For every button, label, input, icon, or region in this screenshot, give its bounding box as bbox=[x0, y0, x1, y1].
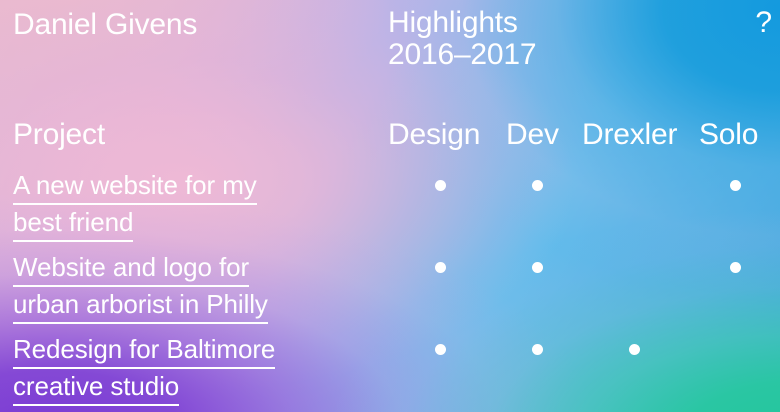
column-header-dev: Dev bbox=[506, 116, 559, 154]
project-link[interactable]: Redesign for Baltimore creative studio bbox=[13, 332, 373, 406]
page-title-line-1: Highlights bbox=[388, 6, 518, 39]
column-header-drexler: Drexler bbox=[582, 116, 677, 154]
help-icon[interactable]: ? bbox=[755, 7, 772, 39]
table-row: Website and logo for urban arborist in P… bbox=[0, 250, 780, 332]
cell-dot-design bbox=[435, 180, 446, 191]
project-link[interactable]: Website and logo for urban arborist in P… bbox=[13, 250, 373, 324]
cell-dot-dev bbox=[532, 344, 543, 355]
project-title-line-2: urban arborist in Philly bbox=[13, 287, 268, 324]
cell-dot-design bbox=[435, 262, 446, 273]
page-title: Highlights 2016–2017 bbox=[388, 7, 536, 71]
projects-table: Project Design Dev Drexler Solo A new we… bbox=[0, 116, 780, 412]
table-row: A new website for my best friend bbox=[0, 168, 780, 250]
page-content: Daniel Givens Highlights 2016–2017 ? Pro… bbox=[0, 0, 780, 412]
project-title-line-1: Redesign for Baltimore bbox=[13, 332, 275, 369]
column-header-project: Project bbox=[13, 116, 105, 154]
project-title-line-1: Website and logo for bbox=[13, 250, 249, 287]
cell-dot-dev bbox=[532, 262, 543, 273]
project-link[interactable]: A new website for my best friend bbox=[13, 168, 373, 242]
project-title-line-1: A new website for my bbox=[13, 168, 257, 205]
cell-dot-dev bbox=[532, 180, 543, 191]
column-header-solo: Solo bbox=[699, 116, 758, 154]
page-root: Daniel Givens Highlights 2016–2017 ? Pro… bbox=[0, 0, 780, 412]
cell-dot-solo bbox=[730, 262, 741, 273]
cell-dot-solo bbox=[730, 180, 741, 191]
site-brand[interactable]: Daniel Givens bbox=[13, 8, 197, 42]
cell-dot-design bbox=[435, 344, 446, 355]
table-row: Redesign for Baltimore creative studio bbox=[0, 332, 780, 412]
project-title-line-2: creative studio bbox=[13, 369, 179, 406]
cell-dot-drexler bbox=[629, 344, 640, 355]
page-title-line-2: 2016–2017 bbox=[388, 39, 536, 71]
project-title-line-2: best friend bbox=[13, 205, 133, 242]
column-header-design: Design bbox=[388, 116, 480, 154]
table-header-row: Project Design Dev Drexler Solo bbox=[0, 116, 780, 168]
